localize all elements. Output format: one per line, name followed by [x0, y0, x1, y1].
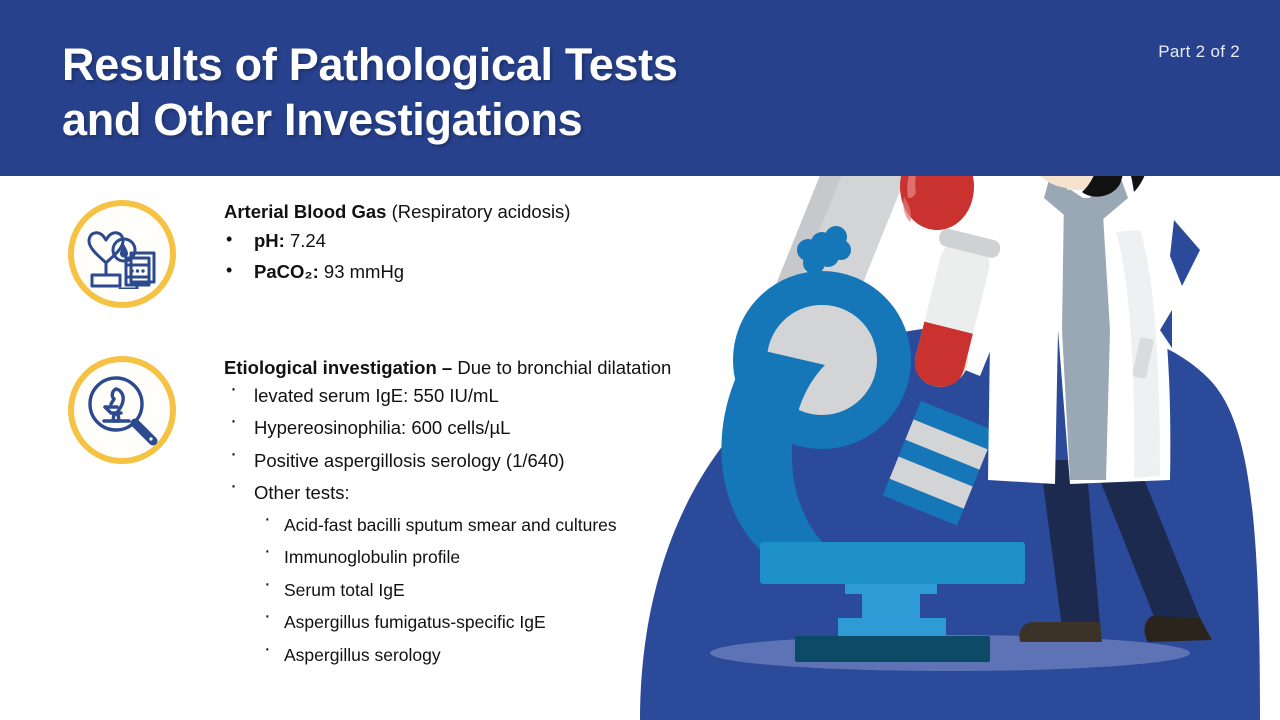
doctor-shirt [1062, 198, 1110, 480]
etio-lead-bold: Etiological investigation – [224, 357, 452, 378]
list-item: pH: 7.24 [224, 232, 784, 251]
abg-bullet-0-value: 7.24 [285, 230, 326, 251]
etio-lead-line: Etiological investigation – Due to bronc… [224, 356, 784, 381]
list-item: Serum total IgE [262, 582, 784, 600]
list-item: Positive aspergillosis serology (1/640) [224, 452, 784, 471]
abg-bullet-1-value: 93 mmHg [319, 261, 404, 282]
list-item: Acid-fast bacilli sputum smear and cultu… [262, 517, 784, 535]
abg-bullet-0-label: pH: [254, 230, 285, 251]
microscope-magnifier-icon [68, 356, 176, 464]
etio-text-column: Etiological investigation – Due to bronc… [224, 356, 784, 679]
blood-test-icon [68, 200, 176, 308]
list-item: levated serum IgE: 550 IU/mL [224, 387, 784, 406]
abg-text-column: Arterial Blood Gas (Respiratory acidosis… [224, 200, 784, 295]
list-item: Hypereosinophilia: 600 cells/µL [224, 419, 784, 438]
page-title: Results of Pathological Tests and Other … [62, 38, 862, 148]
abg-lead-bold: Arterial Blood Gas [224, 201, 386, 222]
abg-lead-line: Arterial Blood Gas (Respiratory acidosis… [224, 200, 784, 225]
list-item: Aspergillus serology [262, 647, 784, 665]
abg-lead-rest: (Respiratory acidosis) [386, 201, 570, 222]
list-item: Aspergillus fumigatus-specific IgE [262, 614, 784, 632]
content-area: Arterial Blood Gas (Respiratory acidosis… [0, 176, 720, 720]
etio-bullet-list: levated serum IgE: 550 IU/mL Hypereosino… [224, 387, 784, 503]
list-item: PaCO₂: 93 mmHg [224, 263, 784, 282]
part-indicator-label: Part 2 of 2 [1158, 42, 1240, 62]
etio-lead-rest: Due to bronchial dilatation [452, 357, 671, 378]
abg-bullet-1-label: PaCO₂: [254, 261, 319, 282]
list-item: Immunoglobulin profile [262, 549, 784, 567]
abg-bullet-list: pH: 7.24 PaCO₂: 93 mmHg [224, 232, 784, 282]
header-bar: Results of Pathological Tests and Other … [0, 0, 1280, 176]
doctor-left-shoe [1020, 622, 1103, 642]
list-item: Other tests: [224, 484, 784, 503]
etio-sub-bullet-list: Acid-fast bacilli sputum smear and cultu… [262, 517, 784, 665]
